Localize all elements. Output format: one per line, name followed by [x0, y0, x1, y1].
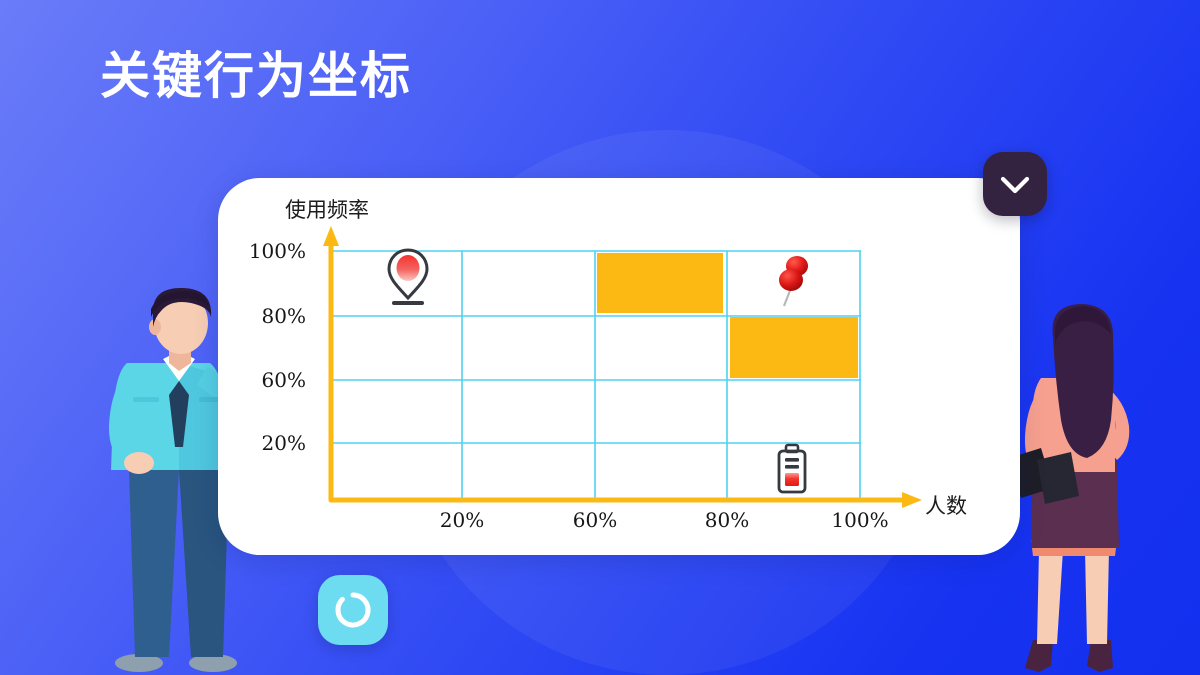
loading-badge[interactable]: [318, 575, 388, 645]
pushpin-icon: [773, 254, 815, 317]
data-bar: [730, 317, 858, 378]
x-tick-label: 20%: [417, 508, 507, 532]
chart-area: 使用频率 人数: [218, 178, 1020, 555]
woman-illustration: [995, 300, 1170, 675]
y-tick-label: 20%: [236, 431, 306, 455]
x-tick-label: 80%: [682, 508, 772, 532]
chart-grid-svg: [218, 178, 1020, 555]
page-title: 关键行为坐标: [100, 46, 412, 106]
y-tick-label: 80%: [236, 304, 306, 328]
slide-root: 关键行为坐标: [0, 0, 1200, 675]
check-icon: [998, 167, 1032, 201]
map-pin-icon: [385, 246, 431, 313]
loading-ring-icon: [333, 590, 373, 630]
x-tick-label: 60%: [550, 508, 640, 532]
y-tick-labels: 100% 80% 60% 20%: [218, 178, 306, 555]
y-tick-label: 100%: [236, 239, 306, 263]
x-tick-label: 100%: [815, 508, 905, 532]
check-badge[interactable]: [983, 152, 1047, 216]
data-bar: [597, 253, 723, 313]
battery-icon: [774, 443, 810, 500]
chart-card: 使用频率 人数: [218, 178, 1020, 555]
y-tick-label: 60%: [236, 368, 306, 392]
